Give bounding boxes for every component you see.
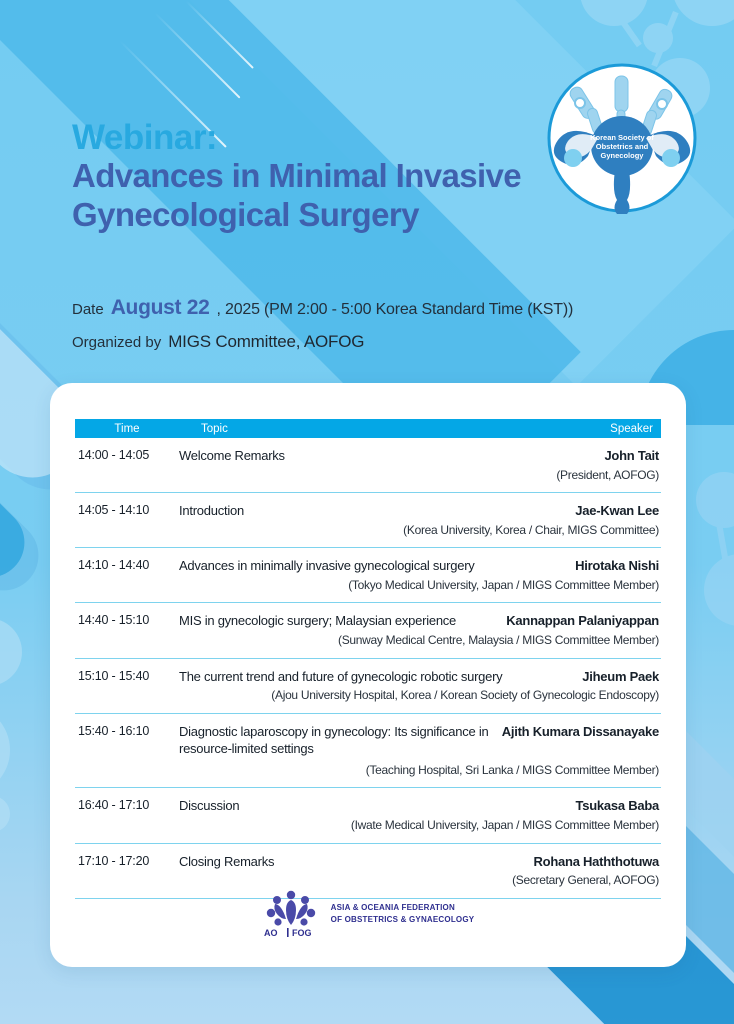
cell-topic: MIS in gynecologic surgery; Malaysian ex… (179, 612, 456, 630)
date-rest: , 2025 (PM 2:00 - 5:00 Korea Standard Ti… (217, 301, 574, 319)
pill-shape-shadow-2 (0, 421, 53, 605)
kicker-text: Webinar: (72, 118, 632, 157)
meta-block: Date August 22 , 2025 (PM 2:00 - 5:00 Ko… (72, 296, 672, 364)
cell-time: 15:40 - 16:10 (75, 723, 179, 779)
cell-speaker-name: Rohana Haththotuwa (534, 854, 660, 869)
headline-line-1: Advances in Minimal Invasive (72, 157, 632, 196)
cell-program-detail: Diagnostic laparoscopy in gynecology: It… (179, 723, 661, 779)
cell-time: 14:40 - 15:10 (75, 612, 179, 648)
cell-speaker-affiliation: (President, AOFOG) (179, 468, 659, 484)
light-streak-3 (185, 0, 254, 69)
topic-speaker-line: Closing RemarksRohana Haththotuwa (179, 853, 659, 871)
aofog-acronym-left: AO (264, 928, 278, 938)
aofog-logo-mark: AO FOG (262, 889, 320, 939)
program-table: Time Topic Speaker 14:00 - 14:05Welcome … (75, 419, 661, 899)
cell-speaker-name: Ajith Kumara Dissanayake (502, 724, 659, 739)
column-header-topic: Topic (179, 423, 541, 435)
cell-time: 16:40 - 17:10 (75, 797, 179, 833)
organizer-row: Organized by MIGS Committee, AOFOG (72, 332, 672, 352)
cell-speaker-affiliation: (Secretary General, AOFOG) (179, 873, 659, 889)
cell-topic: Closing Remarks (179, 853, 274, 871)
table-row: 15:10 - 15:40The current trend and futur… (75, 659, 661, 714)
topic-speaker-line: Advances in minimally invasive gynecolog… (179, 557, 659, 575)
aofog-logo-wordmark: ASIA & OCEANIA FEDERATION OF OBSTETRICS … (331, 902, 475, 925)
cell-program-detail: Welcome RemarksJohn Tait(President, AOFO… (179, 447, 661, 483)
pill-shape-2 (0, 408, 39, 592)
organizer-label: Organized by (72, 334, 161, 351)
table-row: 14:05 - 14:10IntroductionJae-Kwan Lee(Ko… (75, 493, 661, 548)
aofog-acronym-right: FOG (292, 928, 312, 938)
headline-line-2: Gynecological Surgery (72, 196, 632, 235)
cell-time: 14:05 - 14:10 (75, 502, 179, 538)
cell-program-detail: MIS in gynecologic surgery; Malaysian ex… (179, 612, 661, 648)
date-highlight: August 22 (111, 296, 210, 320)
cell-program-detail: DiscussionTsukasa Baba(Iwate Medical Uni… (179, 797, 661, 833)
cell-time: 14:00 - 14:05 (75, 447, 179, 483)
cell-time: 15:10 - 15:40 (75, 668, 179, 704)
cell-time: 14:10 - 14:40 (75, 557, 179, 593)
cell-program-detail: IntroductionJae-Kwan Lee(Korea Universit… (179, 502, 661, 538)
cell-speaker-name: John Tait (604, 448, 659, 463)
date-row: Date August 22 , 2025 (PM 2:00 - 5:00 Ko… (72, 296, 672, 320)
webinar-poster: Korean Society of Obstetrics and Gynecol… (0, 0, 734, 1024)
topic-speaker-line: MIS in gynecologic surgery; Malaysian ex… (179, 612, 659, 630)
topic-speaker-line: The current trend and future of gynecolo… (179, 668, 659, 686)
aofog-wordmark-line-1: ASIA & OCEANIA FEDERATION (331, 902, 475, 914)
table-row: 16:40 - 17:10DiscussionTsukasa Baba(Iwat… (75, 788, 661, 843)
table-row: 14:40 - 15:10MIS in gynecologic surgery;… (75, 603, 661, 658)
cell-program-detail: Advances in minimally invasive gynecolog… (179, 557, 661, 593)
table-row: 14:00 - 14:05Welcome RemarksJohn Tait(Pr… (75, 438, 661, 493)
cell-topic: Diagnostic laparoscopy in gynecology: It… (179, 723, 490, 758)
organizer-value: MIGS Committee, AOFOG (168, 332, 364, 352)
cell-speaker-affiliation: (Tokyo Medical University, Japan / MIGS … (179, 578, 659, 594)
poster-header: Webinar: Advances in Minimal Invasive Gy… (72, 118, 632, 234)
cell-speaker-name: Jiheum Paek (582, 669, 659, 684)
topic-speaker-line: DiscussionTsukasa Baba (179, 797, 659, 815)
program-card: Time Topic Speaker 14:00 - 14:05Welcome … (50, 383, 686, 967)
cell-speaker-affiliation: (Teaching Hospital, Sri Lanka / MIGS Com… (179, 763, 659, 779)
table-body: 14:00 - 14:05Welcome RemarksJohn Tait(Pr… (75, 438, 661, 899)
cell-speaker-affiliation: (Iwate Medical University, Japan / MIGS … (179, 818, 659, 834)
topic-speaker-line: Diagnostic laparoscopy in gynecology: It… (179, 723, 659, 760)
cell-topic: The current trend and future of gynecolo… (179, 668, 502, 686)
table-row: 15:40 - 16:10Diagnostic laparoscopy in g… (75, 714, 661, 789)
cell-speaker-affiliation: (Ajou University Hospital, Korea / Korea… (179, 688, 659, 704)
topic-speaker-line: Welcome RemarksJohn Tait (179, 447, 659, 465)
column-header-time: Time (75, 423, 179, 435)
cell-topic: Advances in minimally invasive gynecolog… (179, 557, 475, 575)
cell-speaker-name: Kannappan Palaniyappan (506, 613, 659, 628)
cell-speaker-affiliation: (Sunway Medical Centre, Malaysia / MIGS … (179, 633, 659, 649)
cell-speaker-name: Tsukasa Baba (576, 798, 659, 813)
aofog-wordmark-line-2: OF OBSTETRICS & GYNAECOLOGY (331, 914, 475, 926)
date-label: Date (72, 301, 104, 318)
cell-speaker-name: Hirotaka Nishi (575, 558, 659, 573)
cell-topic: Welcome Remarks (179, 447, 285, 465)
topic-speaker-line: IntroductionJae-Kwan Lee (179, 502, 659, 520)
table-row: 14:10 - 14:40Advances in minimally invas… (75, 548, 661, 603)
cell-topic: Introduction (179, 502, 244, 520)
aofog-logo: AO FOG ASIA & OCEANIA FEDERATION OF OBST… (50, 889, 686, 939)
table-header-row: Time Topic Speaker (75, 419, 661, 438)
cell-program-detail: Closing RemarksRohana Haththotuwa(Secret… (179, 853, 661, 889)
cell-time: 17:10 - 17:20 (75, 853, 179, 889)
column-header-speaker: Speaker (541, 423, 661, 435)
cell-topic: Discussion (179, 797, 239, 815)
cell-program-detail: The current trend and future of gynecolo… (179, 668, 661, 704)
light-streak-2 (154, 12, 240, 98)
cell-speaker-affiliation: (Korea University, Korea / Chair, MIGS C… (179, 523, 659, 539)
cell-speaker-name: Jae-Kwan Lee (575, 503, 659, 518)
